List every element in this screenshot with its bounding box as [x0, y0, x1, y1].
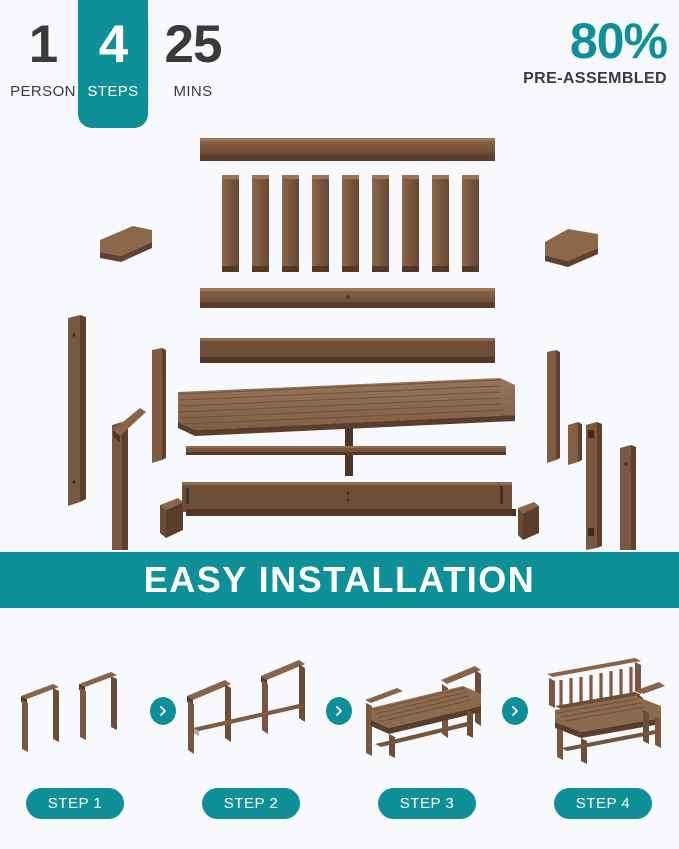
step-badge-2[interactable]: STEP 2 — [202, 788, 300, 819]
part-armrest-right — [545, 229, 598, 267]
part-front-leg-right — [547, 350, 560, 463]
step-label-cell-1: STEP 1 — [0, 788, 150, 819]
part-front-apron — [182, 482, 516, 516]
arm-frame-b — [79, 672, 117, 740]
stat-steps: 4 STEPS — [78, 0, 148, 128]
step-badge-1[interactable]: STEP 1 — [26, 788, 124, 819]
stat-mins-label: MINS — [173, 83, 212, 100]
step-badge-4[interactable]: STEP 4 — [554, 788, 652, 819]
part-rear-leg-right — [620, 445, 636, 550]
step-badge-3[interactable]: STEP 3 — [378, 788, 476, 819]
easy-installation-banner: EASY INSTALLATION — [0, 552, 679, 608]
part-rear-leg-left — [68, 315, 86, 506]
stats-group: 1 PERSON 4 STEPS 25 MINS — [8, 0, 237, 132]
part-seat-panel — [178, 378, 515, 436]
step-illustration-2 — [176, 646, 326, 776]
product-infographic: 1 PERSON 4 STEPS 25 MINS 80% PRE-ASSEMBL… — [0, 0, 679, 849]
stat-steps-number: 4 — [99, 18, 127, 71]
part-rear-post-right — [586, 422, 602, 550]
part-arm-support-right — [568, 422, 582, 465]
bench-with-seat — [365, 666, 481, 758]
stats-bar: 1 PERSON 4 STEPS 25 MINS 80% PRE-ASSEMBL… — [0, 0, 679, 132]
step-label-cell-4: STEP 4 — [528, 788, 678, 819]
step-label-cell-3: STEP 3 — [352, 788, 502, 819]
step-arrow-2 — [326, 646, 352, 776]
step-illustration-4 — [528, 646, 678, 776]
stat-steps-label: STEPS — [87, 83, 138, 100]
part-back-lower-rail — [200, 338, 495, 363]
step-illustrations-row — [0, 646, 679, 776]
part-arm-support-left — [112, 408, 146, 550]
chevron-right-icon — [326, 697, 352, 725]
part-armrest-left — [100, 226, 152, 262]
part-corner-brace-right-upper — [518, 502, 539, 540]
step-illustration-3 — [352, 646, 502, 776]
step-arrow-1 — [150, 646, 176, 776]
step-illustration-1 — [0, 646, 150, 776]
installation-steps-section: STEP 1 STEP 2 STEP 3 STEP 4 — [0, 608, 679, 849]
part-back-slats — [222, 175, 479, 272]
preassembled-badge: 80% PRE-ASSEMBLED — [523, 16, 667, 88]
part-front-leg-left — [152, 348, 166, 463]
stat-person-number: 1 — [29, 18, 57, 71]
chevron-right-icon — [502, 697, 528, 725]
completed-bench — [547, 658, 665, 764]
joined-frame — [187, 660, 305, 754]
stat-person-label: PERSON — [10, 83, 76, 100]
preassembled-caption: PRE-ASSEMBLED — [523, 70, 667, 88]
stat-mins: 25 MINS — [149, 0, 237, 132]
step-label-cell-2: STEP 2 — [176, 788, 326, 819]
stat-person: 1 PERSON — [8, 0, 78, 132]
exploded-parts-diagram — [0, 130, 679, 550]
step-labels-row: STEP 1 STEP 2 STEP 3 STEP 4 — [0, 788, 679, 819]
banner-title: EASY INSTALLATION — [144, 559, 536, 601]
arm-frame-a — [21, 684, 59, 752]
part-seat-front-rail — [200, 288, 495, 308]
part-top-back-rail — [200, 138, 495, 161]
step-arrow-3 — [502, 646, 528, 776]
preassembled-percent: 80% — [523, 16, 667, 66]
stat-mins-number: 25 — [165, 18, 222, 71]
part-corner-brace-left-upper — [160, 498, 183, 538]
chevron-right-icon — [150, 697, 176, 725]
part-cross-brace — [186, 446, 506, 455]
